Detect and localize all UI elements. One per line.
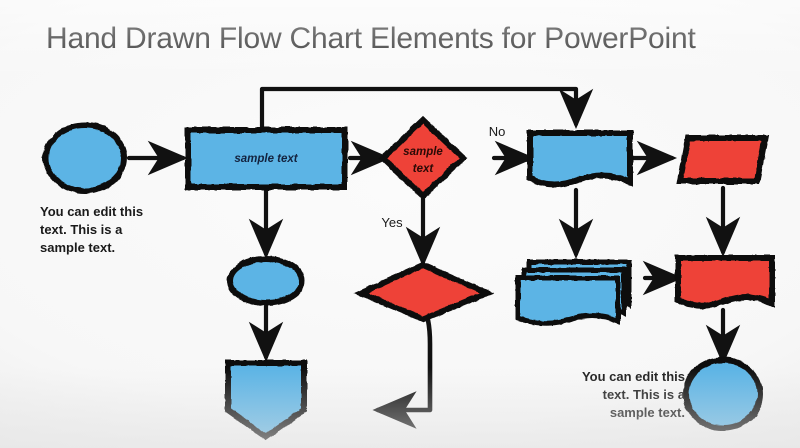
node-ellipse-mid[interactable] bbox=[230, 259, 302, 303]
node-end-circle[interactable] bbox=[686, 360, 760, 428]
slide-canvas: Hand Drawn Flow Chart Elements for Power… bbox=[0, 0, 800, 448]
diamond-label-line1: sample bbox=[403, 146, 443, 158]
node-document-red-mid[interactable] bbox=[678, 258, 772, 306]
caption-right: You can edit this text. This is a sample… bbox=[520, 368, 685, 422]
edge-label-no: No bbox=[489, 124, 506, 139]
node-rhombus-mid[interactable] bbox=[361, 265, 487, 319]
node-document-top[interactable] bbox=[530, 133, 630, 185]
rectangle-label: sample text bbox=[234, 153, 298, 165]
caption-left: You can edit this text. This is a sample… bbox=[40, 203, 143, 257]
node-multidocument-mid[interactable] bbox=[518, 262, 629, 323]
diamond-label-line2: text bbox=[413, 163, 435, 175]
edge-label-yes: Yes bbox=[381, 215, 403, 230]
node-parallelogram-top[interactable] bbox=[680, 138, 765, 181]
node-pentagon-bottom[interactable] bbox=[228, 363, 304, 437]
node-start-circle[interactable] bbox=[46, 125, 124, 191]
edge-rhombus-elbow-down-left bbox=[378, 320, 430, 410]
